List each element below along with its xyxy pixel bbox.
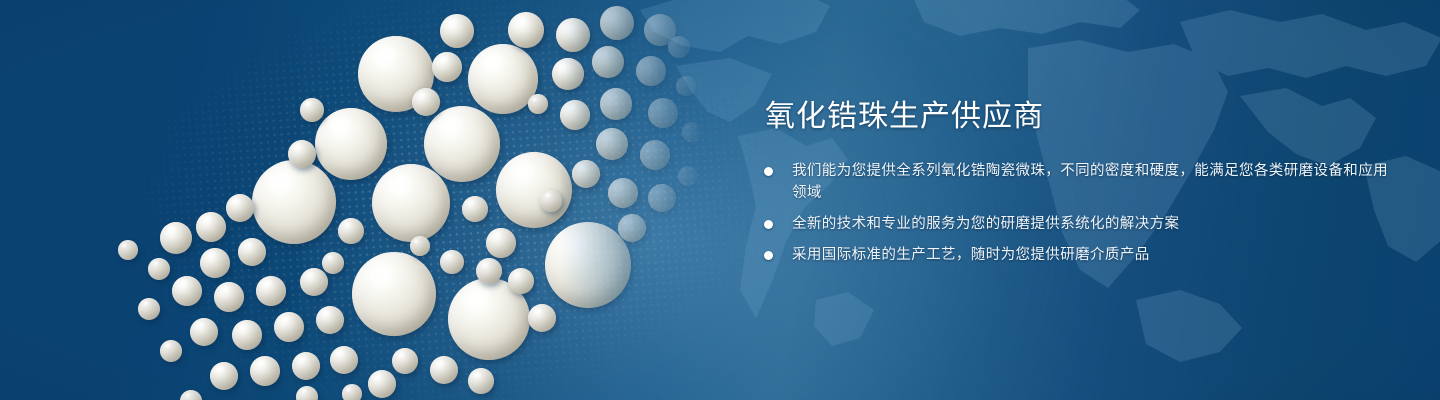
bullet-dot-icon xyxy=(764,220,773,229)
list-item: 我们能为您提供全系列氧化锆陶瓷微珠，不同的密度和硬度，能满足您各类研磨设备和应用… xyxy=(762,160,1402,204)
feature-list: 我们能为您提供全系列氧化锆陶瓷微珠，不同的密度和硬度，能满足您各类研磨设备和应用… xyxy=(762,160,1402,266)
banner-copy: 氧化锆珠生产供应商 我们能为您提供全系列氧化锆陶瓷微珠，不同的密度和硬度，能满足… xyxy=(762,100,1402,266)
bullet-dot-icon xyxy=(764,167,773,176)
list-item-label: 全新的技术和专业的服务为您的研磨提供系统化的解决方案 xyxy=(792,213,1402,235)
bullet-dot-icon xyxy=(764,251,773,260)
list-item-label: 采用国际标准的生产工艺，随时为您提供研磨介质产品 xyxy=(792,244,1402,266)
hero-banner: 氧化锆珠生产供应商 我们能为您提供全系列氧化锆陶瓷微珠，不同的密度和硬度，能满足… xyxy=(0,0,1440,400)
list-item-label: 我们能为您提供全系列氧化锆陶瓷微珠，不同的密度和硬度，能满足您各类研磨设备和应用… xyxy=(792,160,1402,204)
list-item: 全新的技术和专业的服务为您的研磨提供系统化的解决方案 xyxy=(762,213,1402,235)
page-title: 氧化锆珠生产供应商 xyxy=(765,100,1402,134)
list-item: 采用国际标准的生产工艺，随时为您提供研磨介质产品 xyxy=(762,244,1402,266)
